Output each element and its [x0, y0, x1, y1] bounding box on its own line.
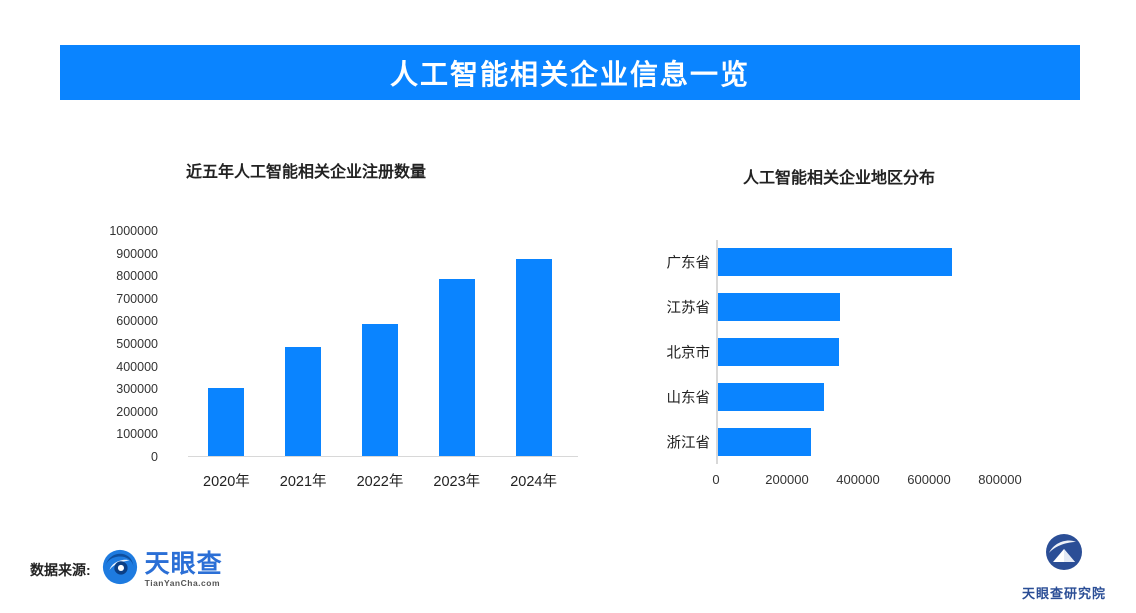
region-distribution-chart: 广东省江苏省北京市山东省浙江省 020000040000060000080000…: [634, 240, 1054, 505]
x-tick-label: 2024年: [499, 470, 569, 491]
hbar-x-tick-label: 400000: [818, 472, 898, 487]
x-tick-label: 2022年: [345, 470, 415, 491]
hbar-plot-area: [716, 240, 1016, 470]
y-tick-label: 500000: [78, 337, 158, 351]
research-institute-name: 天眼查研究院: [1022, 583, 1106, 602]
tianyancha-research-roof-icon: [1038, 533, 1090, 580]
bar-column: [439, 279, 475, 455]
x-axis-labels: 2020年2021年2022年2023年2024年: [174, 470, 574, 494]
y-axis-ticks: 0100000200000300000400000500000600000700…: [78, 222, 158, 457]
y-tick-label: 100000: [78, 427, 158, 441]
bar: [362, 324, 398, 455]
hbar-x-tick-label: 600000: [889, 472, 969, 487]
x-tick-label: 2021年: [268, 470, 338, 491]
registrations-bar-chart: 0100000200000300000400000500000600000700…: [78, 222, 578, 492]
tianyancha-brand-cn: 天眼查: [145, 552, 223, 577]
y-tick-label: 400000: [78, 360, 158, 374]
hbar-x-tick-label: 200000: [747, 472, 827, 487]
research-institute-logo: 天眼查研究院: [1022, 533, 1106, 602]
category-label: 江苏省: [630, 297, 710, 318]
hbar-x-tick-label: 800000: [960, 472, 1040, 487]
y-tick-label: 0: [78, 450, 158, 464]
hbar: [718, 248, 952, 276]
y-tick-label: 900000: [78, 247, 158, 261]
tianyancha-logo: 天眼查 TianYanCha.com: [101, 548, 223, 591]
bar-column: [362, 324, 398, 455]
hbar-x-tick-label: 0: [676, 472, 756, 487]
tianyancha-brand-en: TianYanCha.com: [145, 579, 223, 588]
category-label: 广东省: [630, 252, 710, 273]
y-tick-label: 200000: [78, 405, 158, 419]
hbar: [718, 293, 840, 321]
header-banner: 人工智能相关企业信息一览: [60, 45, 1080, 100]
y-tick-label: 800000: [78, 269, 158, 283]
hbar: [718, 338, 839, 366]
left-chart-title: 近五年人工智能相关企业注册数量: [186, 158, 426, 182]
hbar: [718, 428, 811, 456]
x-axis-line: [188, 456, 578, 458]
category-labels: 广东省江苏省北京市山东省浙江省: [634, 240, 710, 470]
bar-column: [208, 388, 244, 456]
bar-column: [285, 347, 321, 455]
data-source-footer: 数据来源: 天眼查 TianYanCha.com: [30, 548, 223, 591]
right-chart-title: 人工智能相关企业地区分布: [743, 164, 935, 188]
bar: [516, 259, 552, 456]
infographic-page: 人工智能相关企业信息一览 近五年人工智能相关企业注册数量 人工智能相关企业地区分…: [0, 0, 1136, 613]
category-label: 北京市: [630, 342, 710, 363]
bar: [208, 388, 244, 456]
bar-column: [516, 259, 552, 456]
tianyancha-eye-icon: [101, 548, 139, 591]
y-tick-label: 300000: [78, 382, 158, 396]
bar: [439, 279, 475, 455]
category-label: 浙江省: [630, 431, 710, 452]
hbar: [718, 383, 825, 411]
y-tick-label: 700000: [78, 292, 158, 306]
y-tick-label: 600000: [78, 314, 158, 328]
y-tick-label: 1000000: [78, 224, 158, 238]
category-label: 山东省: [630, 386, 710, 407]
x-tick-label: 2020年: [191, 470, 261, 491]
hbar-x-axis-labels: 0200000400000600000800000: [716, 472, 1036, 494]
bar-plot-area: [174, 231, 558, 457]
page-title: 人工智能相关企业信息一览: [390, 53, 750, 93]
x-tick-label: 2023年: [422, 470, 492, 491]
tianyancha-wordmark: 天眼查 TianYanCha.com: [145, 552, 223, 588]
source-label: 数据来源:: [30, 560, 91, 580]
bar: [285, 347, 321, 455]
